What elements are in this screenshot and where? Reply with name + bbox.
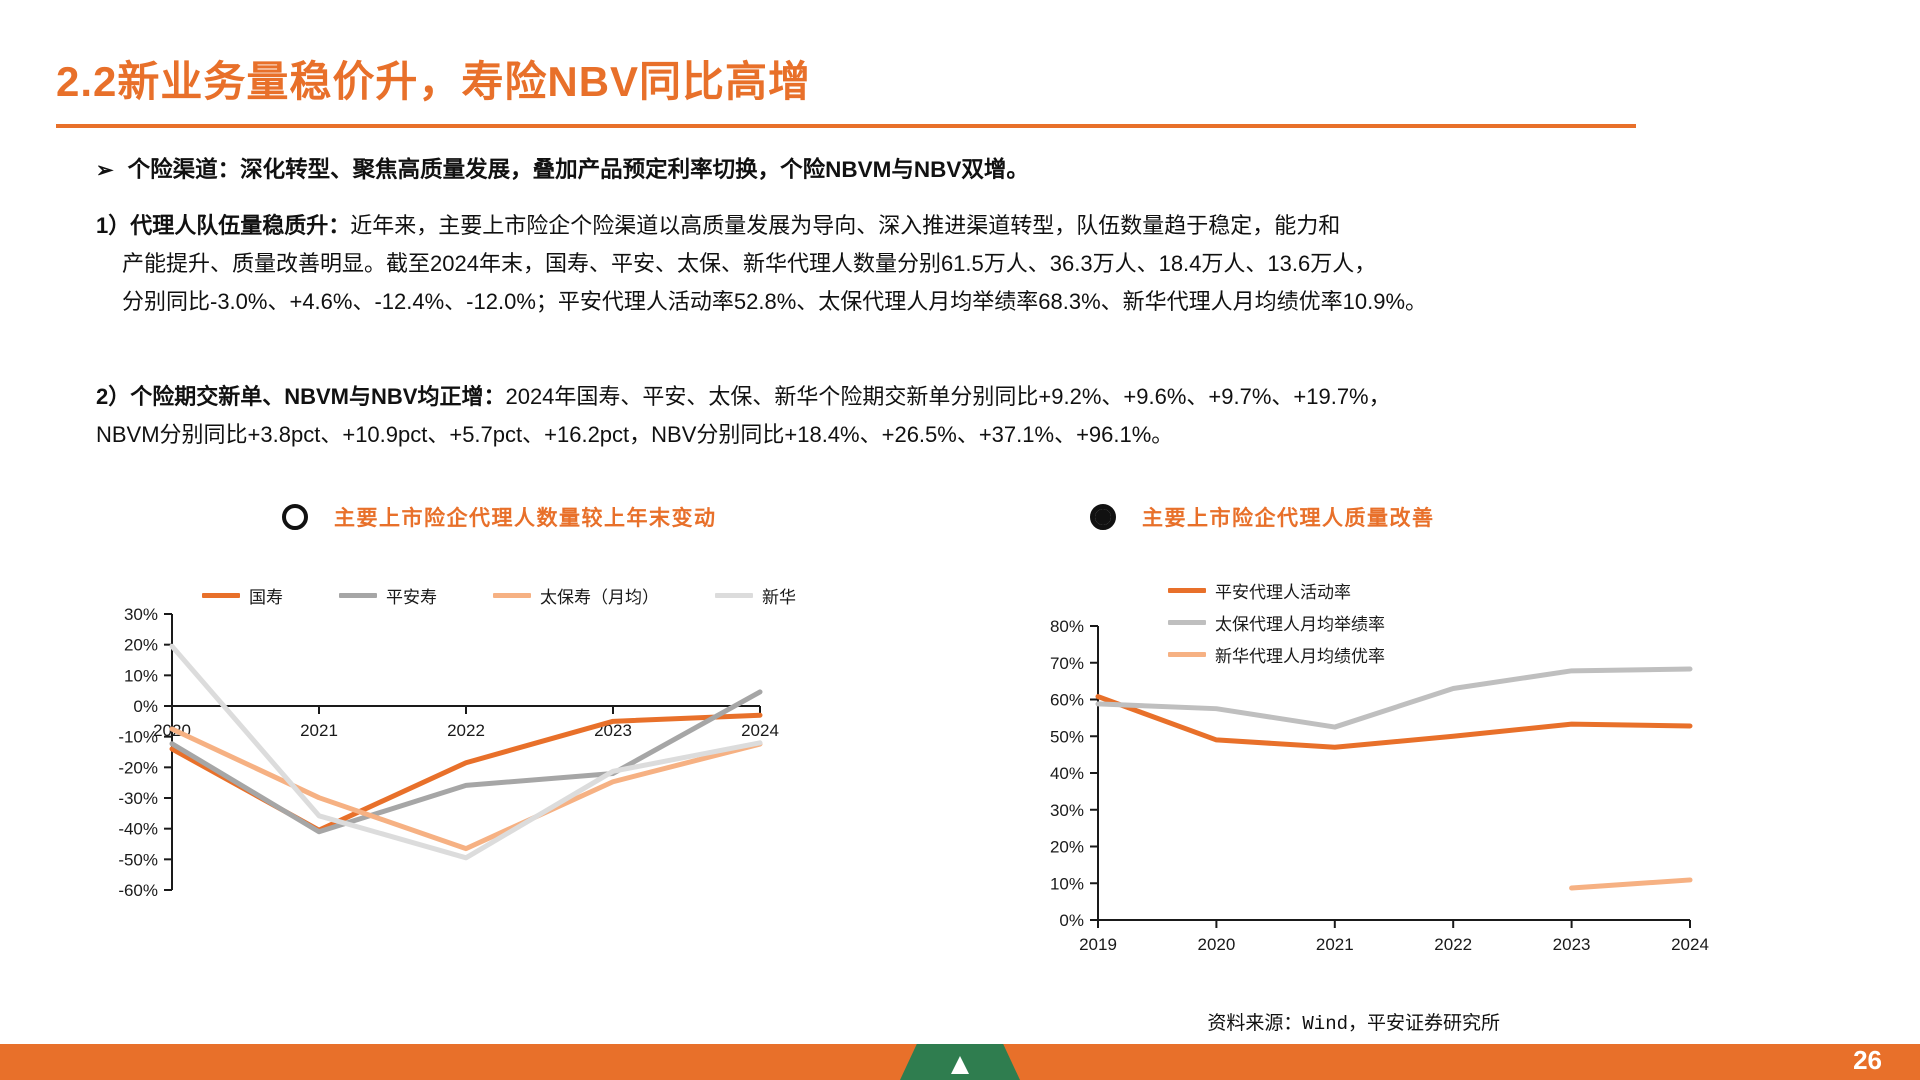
svg-text:-20%: -20%: [118, 758, 158, 777]
svg-text:2024: 2024: [741, 721, 779, 740]
legend-swatch-2: [493, 593, 531, 598]
filled-ring-marker-icon: [1090, 504, 1116, 530]
svg-text:80%: 80%: [1050, 617, 1084, 636]
paragraph-2: 2）个险期交新单、NBVM与NBV均正增：2024年国寿、平安、太保、新华个险期…: [96, 378, 1886, 454]
svg-text:40%: 40%: [1050, 764, 1084, 783]
legend-swatch-1: [339, 593, 377, 598]
paragraph-1-line-2: 产能提升、质量改善明显。截至2024年末，国寿、平安、太保、新华代理人数量分别6…: [96, 245, 1886, 283]
svg-text:50%: 50%: [1050, 727, 1084, 746]
legend-swatch-0: [1168, 588, 1206, 593]
svg-text:20%: 20%: [124, 636, 158, 655]
svg-text:-10%: -10%: [118, 728, 158, 747]
chart-plot-left: 30%20%10%0%-10%-20%-30%-40%-50%-60%20202…: [100, 600, 920, 1000]
legend-swatch-3: [715, 593, 753, 598]
paragraph-2-line-2: NBVM分别同比+3.8pct、+10.9pct、+5.7pct、+16.2pc…: [96, 416, 1886, 454]
svg-text:2024: 2024: [1671, 935, 1709, 954]
paragraph-1-line-3: 分别同比-3.0%、+4.6%、-12.4%、-12.0%；平安代理人活动率52…: [96, 283, 1886, 321]
svg-text:2023: 2023: [1553, 935, 1591, 954]
bullet-row: ➢ 个险渠道：深化转型、聚焦高质量发展，叠加产品预定利率切换，个险NBVM与NB…: [96, 152, 1029, 184]
svg-text:30%: 30%: [124, 605, 158, 624]
chart-heading-left: 主要上市险企代理人数量较上年末变动: [282, 502, 717, 532]
svg-text:10%: 10%: [1050, 874, 1084, 893]
svg-text:2021: 2021: [300, 721, 338, 740]
svg-text:2021: 2021: [1316, 935, 1354, 954]
legend-swatch-0: [202, 593, 240, 598]
footer-bar: 26: [0, 1044, 1920, 1080]
paragraph-1-line-1: 近年来，主要上市险企个险渠道以高质量发展为导向、深入推进渠道转型，队伍数量趋于稳…: [350, 213, 1340, 238]
bullet-arrow-icon: ➢: [96, 158, 114, 183]
chart-plot-right: 80%70%60%50%40%30%20%10%0%20192020202120…: [1020, 600, 1780, 1000]
svg-text:-30%: -30%: [118, 789, 158, 808]
svg-text:30%: 30%: [1050, 801, 1084, 820]
chart-title-left: 主要上市险企代理人数量较上年末变动: [334, 502, 717, 532]
svg-text:2019: 2019: [1079, 935, 1117, 954]
svg-text:2022: 2022: [447, 721, 485, 740]
chart-title-right: 主要上市险企代理人质量改善: [1142, 502, 1435, 532]
svg-text:20%: 20%: [1050, 838, 1084, 857]
svg-text:2020: 2020: [1197, 935, 1235, 954]
paragraph-2-line-1: 2024年国寿、平安、太保、新华个险期交新单分别同比+9.2%、+9.6%、+9…: [505, 384, 1390, 409]
page-number: 26: [1853, 1045, 1882, 1076]
paragraph-1-lead: 1）代理人队伍量稳质升：: [96, 213, 350, 238]
page-title: 2.2新业务量稳价升，寿险NBV同比高增: [56, 48, 811, 109]
svg-text:0%: 0%: [1059, 911, 1084, 930]
svg-text:10%: 10%: [124, 666, 158, 685]
svg-text:2022: 2022: [1434, 935, 1472, 954]
source-note: 资料来源：Wind，平安证券研究所: [1207, 1008, 1500, 1035]
chart-heading-right: 主要上市险企代理人质量改善: [1090, 502, 1435, 532]
svg-text:0%: 0%: [133, 697, 158, 716]
svg-text:-50%: -50%: [118, 850, 158, 869]
svg-text:-60%: -60%: [118, 881, 158, 900]
ring-marker-icon: [282, 504, 308, 530]
bullet-text: 个险渠道：深化转型、聚焦高质量发展，叠加产品预定利率切换，个险NBVM与NBV双…: [128, 152, 1029, 184]
svg-text:-40%: -40%: [118, 820, 158, 839]
paragraph-1: 1）代理人队伍量稳质升：近年来，主要上市险企个险渠道以高质量发展为导向、深入推进…: [96, 207, 1886, 321]
svg-text:70%: 70%: [1050, 654, 1084, 673]
svg-text:60%: 60%: [1050, 691, 1084, 710]
brand-logo-icon: [951, 1056, 969, 1074]
paragraph-2-lead: 2）个险期交新单、NBVM与NBV均正增：: [96, 384, 505, 409]
title-divider: [56, 124, 1636, 128]
